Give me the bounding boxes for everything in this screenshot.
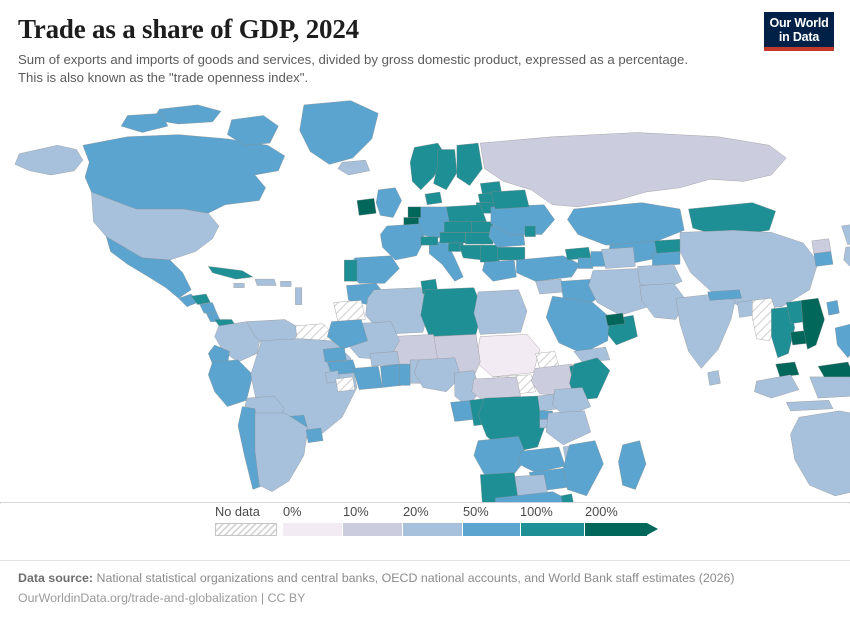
country-uruguay[interactable] <box>306 428 323 443</box>
world-map-svg[interactable] <box>0 90 850 504</box>
legend-labels: No data 0% 10% 20% 50% 100% 200% <box>215 504 645 522</box>
logo-line-2: in Data <box>768 31 830 45</box>
chart-footer: Data source: National statistical organi… <box>0 560 850 619</box>
legend-open-ended-arrow <box>647 523 658 535</box>
legend-tick-50: 50% <box>463 504 489 519</box>
footer-source-line: Data source: National statistical organi… <box>18 569 832 588</box>
country-western-sahara[interactable] <box>334 300 366 321</box>
country-japan-honshu[interactable] <box>844 245 850 271</box>
country-france[interactable] <box>380 224 425 260</box>
country-jamaica[interactable] <box>234 283 245 287</box>
country-uae[interactable] <box>606 313 625 326</box>
footer-source-label: Data source: <box>18 571 93 585</box>
country-saudi-arabia[interactable] <box>546 296 610 353</box>
country-tanzania[interactable] <box>546 411 591 445</box>
legend-bin-50[interactable] <box>463 523 521 536</box>
country-united-kingdom[interactable] <box>376 188 402 218</box>
country-bulgaria[interactable] <box>497 247 525 260</box>
country-australia[interactable] <box>791 409 850 496</box>
footer-source-text: National statistical organizations and c… <box>97 571 735 585</box>
country-south-korea[interactable] <box>814 252 833 267</box>
footer-attribution[interactable]: OurWorldinData.org/trade-and-globalizati… <box>18 589 832 608</box>
legend-bars <box>215 523 645 537</box>
country-ireland[interactable] <box>357 198 376 215</box>
country-netherlands[interactable] <box>408 207 421 218</box>
legend-no-data-swatch[interactable] <box>215 523 277 536</box>
country-ghana[interactable] <box>380 364 401 387</box>
country-greece[interactable] <box>482 260 516 281</box>
country-iceland[interactable] <box>338 160 370 175</box>
country-liberia[interactable] <box>336 377 355 392</box>
country-mozambique[interactable] <box>563 441 603 496</box>
owid-chart: Trade as a share of GDP, 2024 Sum of exp… <box>0 0 850 600</box>
country-egypt[interactable] <box>474 290 527 335</box>
chart-subtitle: Sum of exports and imports of goods and … <box>18 51 698 86</box>
country-indonesia-sumatra[interactable] <box>754 375 799 398</box>
chart-header: Trade as a share of GDP, 2024 Sum of exp… <box>0 0 850 86</box>
owid-logo[interactable]: Our World in Data <box>764 12 834 51</box>
legend-tick-10: 10% <box>343 504 369 519</box>
country-portugal[interactable] <box>344 260 357 281</box>
country-hungary[interactable] <box>465 232 493 244</box>
country-senegal[interactable] <box>323 347 346 362</box>
country-serbia[interactable] <box>480 245 499 262</box>
country-turkmenistan[interactable] <box>601 247 635 268</box>
country-madagascar[interactable] <box>618 441 646 490</box>
legend-tick-0: 0% <box>283 504 302 519</box>
country-angola[interactable] <box>474 436 527 476</box>
country-sudan[interactable] <box>476 334 540 377</box>
legend-bin-20[interactable] <box>403 523 463 536</box>
country-burkina-faso[interactable] <box>370 351 400 366</box>
legend-bin-200[interactable] <box>585 523 647 536</box>
country-belarus[interactable] <box>491 190 529 209</box>
country-denmark[interactable] <box>425 192 442 205</box>
world-map[interactable] <box>0 90 850 504</box>
legend-tick-200: 200% <box>585 504 618 519</box>
legend-tick-100: 100% <box>520 504 553 519</box>
country-central-african-rep[interactable] <box>472 377 521 400</box>
logo-line-1: Our World <box>768 17 830 31</box>
legend-inner: No data 0% 10% 20% 50% 100% 200% <box>215 504 645 522</box>
country-tajikistan[interactable] <box>652 252 680 267</box>
country-eritrea[interactable] <box>536 351 559 368</box>
country-indonesia-borneo[interactable] <box>810 377 850 398</box>
country-czechia[interactable] <box>444 222 472 233</box>
country-nigeria[interactable] <box>414 358 461 392</box>
country-north-korea[interactable] <box>812 239 831 254</box>
legend-bin-10[interactable] <box>343 523 403 536</box>
country-philippines[interactable] <box>835 324 850 358</box>
country-indonesia-java[interactable] <box>786 400 833 411</box>
country-moldova[interactable] <box>525 226 536 237</box>
country-canada-victoria[interactable] <box>121 113 168 132</box>
country-sri-lanka[interactable] <box>708 371 721 386</box>
country-cuba[interactable] <box>208 266 253 279</box>
country-togo[interactable] <box>400 364 411 385</box>
country-argentina[interactable] <box>255 413 308 492</box>
country-puerto-rico[interactable] <box>281 281 292 286</box>
country-finland[interactable] <box>457 143 483 186</box>
country-kazakhstan[interactable] <box>567 203 684 246</box>
legend-color-ramp[interactable] <box>283 523 647 536</box>
legend-no-data-label: No data <box>215 504 260 519</box>
legend-tick-20: 20% <box>403 504 429 519</box>
country-austria[interactable] <box>440 232 466 243</box>
country-zambia[interactable] <box>519 447 566 473</box>
map-legend: No data 0% 10% 20% 50% 100% 200% <box>0 504 850 560</box>
country-japan[interactable] <box>842 224 850 245</box>
country-greenland[interactable] <box>300 101 379 165</box>
country-lesser-antilles[interactable] <box>295 288 301 305</box>
country-libya[interactable] <box>421 288 483 337</box>
country-taiwan[interactable] <box>827 300 840 315</box>
country-alaska[interactable] <box>15 145 83 175</box>
country-nicaragua[interactable] <box>200 303 217 314</box>
map-countries <box>0 101 850 505</box>
country-malaysia[interactable] <box>776 362 799 377</box>
country-hispaniola[interactable] <box>255 279 276 285</box>
country-ivory-coast[interactable] <box>353 366 383 389</box>
country-syria[interactable] <box>536 279 566 294</box>
country-bangladesh[interactable] <box>737 300 754 317</box>
country-switzerland[interactable] <box>421 237 438 246</box>
country-india[interactable] <box>676 294 736 368</box>
legend-bin-100[interactable] <box>521 523 585 536</box>
legend-bin-0[interactable] <box>283 523 343 536</box>
page-title: Trade as a share of GDP, 2024 <box>18 14 832 44</box>
